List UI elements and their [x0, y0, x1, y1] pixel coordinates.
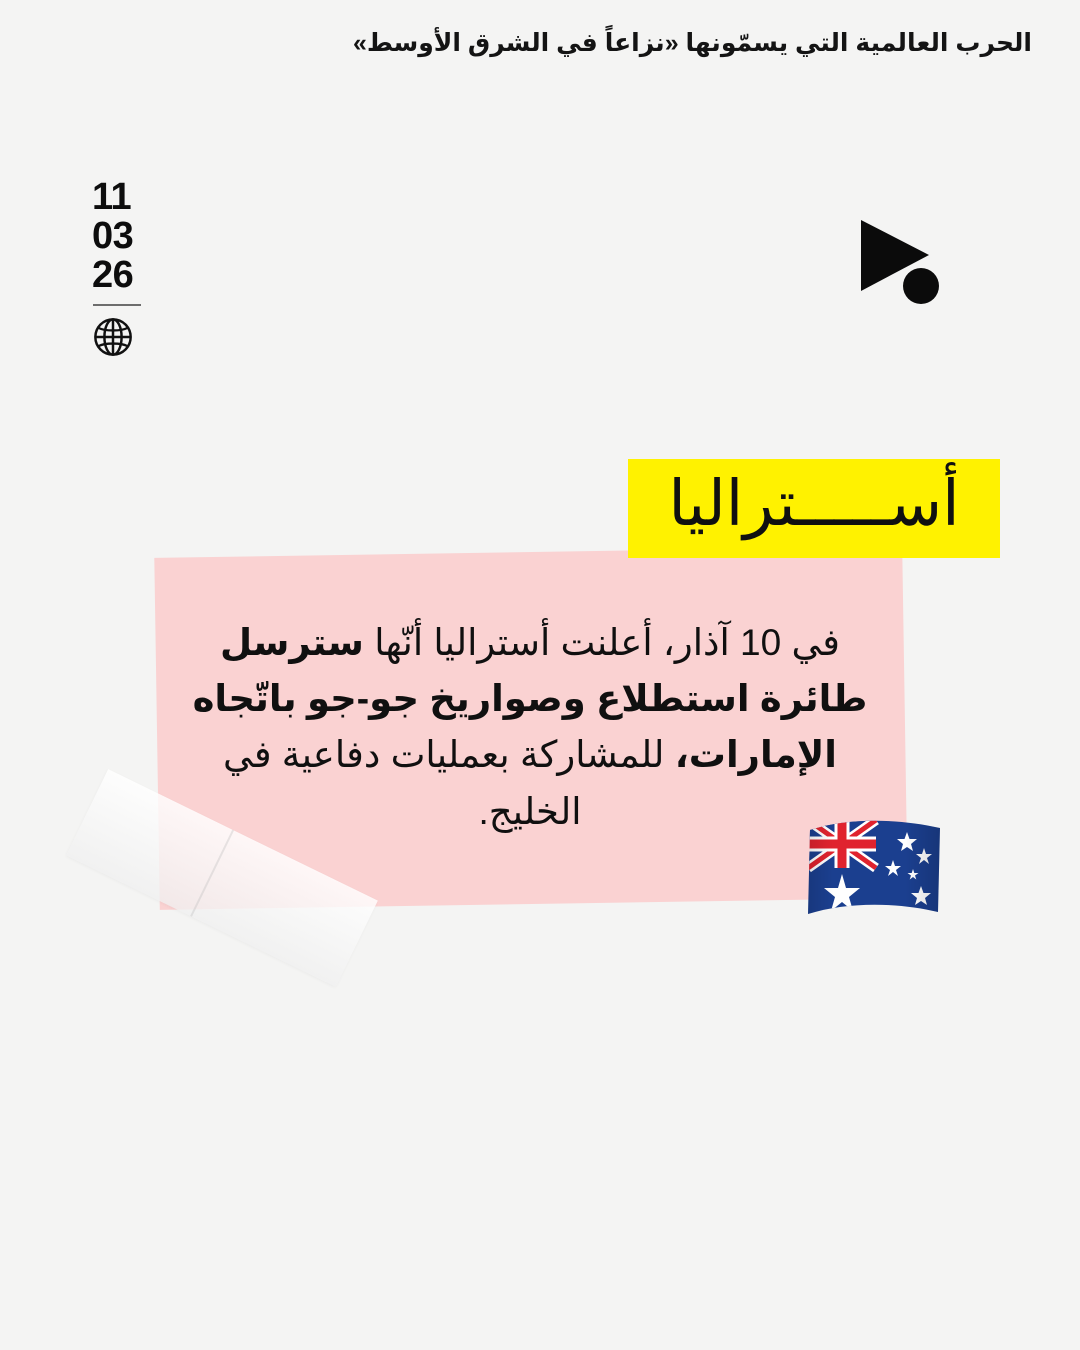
date-year: 26: [92, 256, 182, 295]
date-day: 11: [92, 178, 182, 217]
date-stack: 11 03 26: [92, 178, 182, 358]
country-title-highlight: أســـــتراليا: [628, 459, 1000, 558]
brand-logo[interactable]: [856, 216, 960, 306]
date-divider: [93, 304, 141, 306]
australia-flag-emoji: [800, 812, 950, 930]
news-body-text: في 10 آذار، أعلنت أستراليا أنّها سترسل ط…: [180, 615, 880, 840]
header-kicker: الحرب العالمية التي يسمّونها «نزاعاً في …: [0, 28, 1032, 58]
date-month: 03: [92, 217, 182, 256]
body-lead: في 10 آذار، أعلنت أستراليا أنّها: [364, 622, 840, 663]
body-tail: للمشاركة بعمليات دفاعية في الخليج.: [223, 734, 675, 831]
country-title-text: أســـــتراليا: [668, 473, 959, 536]
globe-icon: [92, 316, 134, 358]
